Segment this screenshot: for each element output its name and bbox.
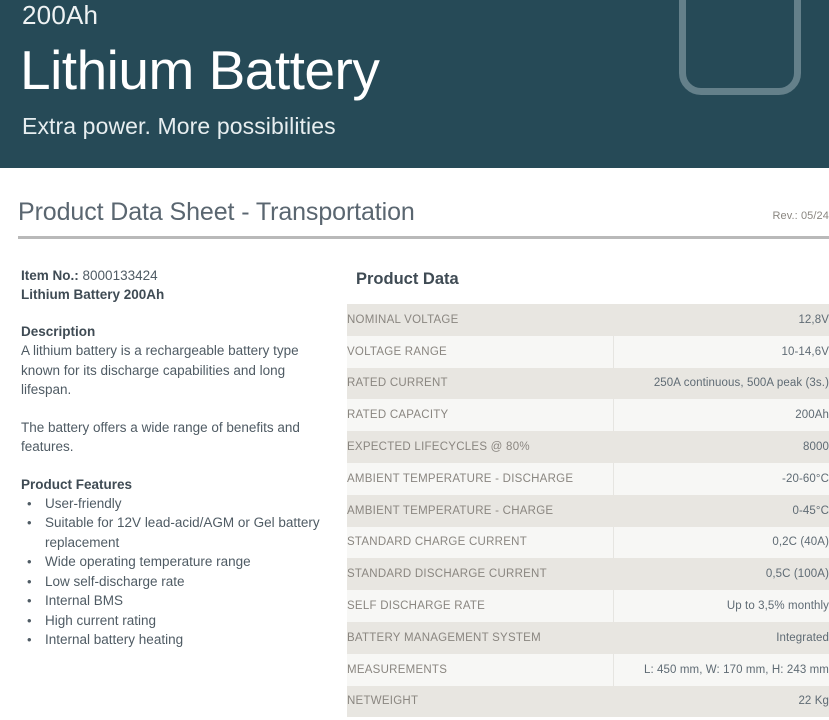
product-name: Lithium Battery 200Ah xyxy=(21,285,321,304)
product-data-heading: Product Data xyxy=(347,268,829,290)
table-row: AMBIENT TEMPERATURE - DISCHARGE -20-60°C xyxy=(347,463,829,495)
spec-value: L: 450 mm, W: 170 mm, H: 243 mm xyxy=(613,654,829,686)
spec-value: 22 Kg xyxy=(613,686,829,718)
spacer xyxy=(21,400,321,418)
spec-value: 200Ah xyxy=(613,399,829,431)
spec-value: Integrated xyxy=(613,622,829,654)
page-title: Product Data Sheet - Transportation xyxy=(18,196,415,228)
list-item: Low self-discharge rate xyxy=(21,572,321,592)
hero-banner: 200Ah Lithium Battery Extra power. More … xyxy=(0,0,829,168)
spec-label: RATED CURRENT xyxy=(347,368,613,400)
table-row: BATTERY MANAGEMENT SYSTEM Integrated xyxy=(347,622,829,654)
spec-label: NETWEIGHT xyxy=(347,686,613,718)
hero-capacity: 200Ah xyxy=(22,0,98,30)
product-data-column: Product Data NOMINAL VOLTAGE 12,8V VOLTA… xyxy=(347,268,829,717)
spacer xyxy=(21,304,321,322)
title-divider xyxy=(18,236,829,239)
spec-value: 0,5C (100A) xyxy=(613,558,829,590)
spec-label: AMBIENT TEMPERATURE - DISCHARGE xyxy=(347,463,613,495)
spec-label: MEASUREMENTS xyxy=(347,654,613,686)
list-item: High current rating xyxy=(21,611,321,631)
spec-value: 0-45°C xyxy=(613,495,829,527)
list-item: User-friendly xyxy=(21,494,321,514)
hero-tagline: Extra power. More possibilities xyxy=(22,112,336,140)
spec-value: 250A continuous, 500A peak (3s.) xyxy=(613,368,829,400)
spec-label: RATED CAPACITY xyxy=(347,399,613,431)
table-row: NOMINAL VOLTAGE 12,8V xyxy=(347,304,829,336)
table-row: EXPECTED LIFECYCLES @ 80% 8000 xyxy=(347,431,829,463)
spec-label: VOLTAGE RANGE xyxy=(347,336,613,368)
product-info-column: Item No.: 8000133424 Lithium Battery 200… xyxy=(21,266,321,650)
spec-value: 12,8V xyxy=(613,304,829,336)
table-row: SELF DISCHARGE RATE Up to 3,5% monthly xyxy=(347,590,829,622)
spec-label: AMBIENT TEMPERATURE - CHARGE xyxy=(347,495,613,527)
product-name-text: Lithium Battery 200Ah xyxy=(21,287,164,302)
spec-label: EXPECTED LIFECYCLES @ 80% xyxy=(347,431,613,463)
table-row: MEASUREMENTS L: 450 mm, W: 170 mm, H: 24… xyxy=(347,654,829,686)
item-number-label: Item No.: xyxy=(21,268,79,283)
sheet-header: Product Data Sheet - Transportation Rev.… xyxy=(18,196,829,238)
spec-label: NOMINAL VOLTAGE xyxy=(347,304,613,336)
spec-value: 8000 xyxy=(613,431,829,463)
features-heading: Product Features xyxy=(21,475,321,494)
list-item: Suitable for 12V lead-acid/AGM or Gel ba… xyxy=(21,513,321,552)
description-paragraph-2: The battery offers a wide range of benef… xyxy=(21,418,321,457)
hero-title: Lithium Battery xyxy=(20,38,379,102)
table-row: STANDARD DISCHARGE CURRENT 0,5C (100A) xyxy=(347,558,829,590)
hero-text-group: 200Ah Lithium Battery Extra power. More … xyxy=(22,0,642,168)
description-heading: Description xyxy=(21,322,321,341)
spec-label: BATTERY MANAGEMENT SYSTEM xyxy=(347,622,613,654)
spec-label: SELF DISCHARGE RATE xyxy=(347,590,613,622)
table-row: AMBIENT TEMPERATURE - CHARGE 0-45°C xyxy=(347,495,829,527)
battery-outline-icon xyxy=(679,0,801,95)
revision-label: Rev.: 05/24 xyxy=(772,209,829,223)
spec-value: 0,2C (40A) xyxy=(613,527,829,559)
item-number-value: 8000133424 xyxy=(83,268,158,283)
table-row: NETWEIGHT 22 Kg xyxy=(347,686,829,718)
description-paragraph-1: A lithium battery is a rechargeable batt… xyxy=(21,341,321,400)
list-item: Internal battery heating xyxy=(21,630,321,650)
product-data-table: NOMINAL VOLTAGE 12,8V VOLTAGE RANGE 10-1… xyxy=(347,304,829,717)
spec-value: 10-14,6V xyxy=(613,336,829,368)
spacer xyxy=(21,457,321,475)
spec-value: -20-60°C xyxy=(613,463,829,495)
table-row: VOLTAGE RANGE 10-14,6V xyxy=(347,336,829,368)
table-row: RATED CAPACITY 200Ah xyxy=(347,399,829,431)
list-item: Internal BMS xyxy=(21,591,321,611)
spec-value: Up to 3,5% monthly xyxy=(613,590,829,622)
list-item: Wide operating temperature range xyxy=(21,552,321,572)
item-number-line: Item No.: 8000133424 xyxy=(21,266,321,285)
spec-label: STANDARD DISCHARGE CURRENT xyxy=(347,558,613,590)
spec-label: STANDARD CHARGE CURRENT xyxy=(347,527,613,559)
table-row: RATED CURRENT 250A continuous, 500A peak… xyxy=(347,368,829,400)
table-row: STANDARD CHARGE CURRENT 0,2C (40A) xyxy=(347,527,829,559)
features-list: User-friendly Suitable for 12V lead-acid… xyxy=(21,494,321,650)
